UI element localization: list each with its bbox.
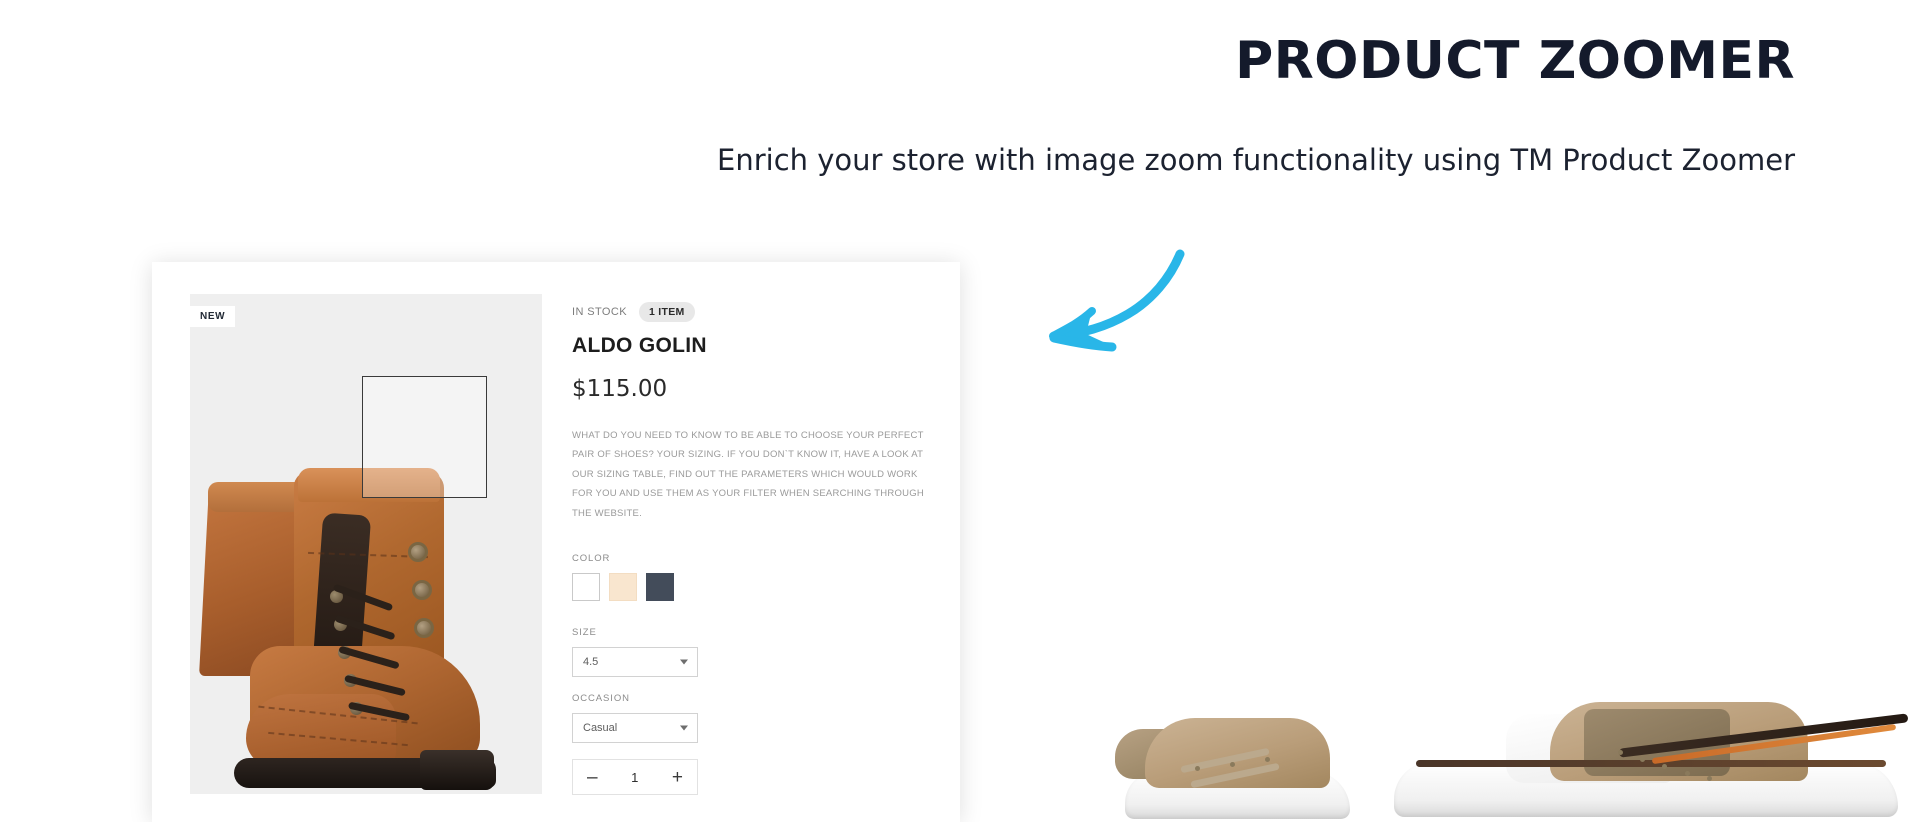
- color-swatch-cream[interactable]: [609, 573, 637, 601]
- product-price: $115.00: [572, 376, 930, 402]
- quantity-stepper[interactable]: – 1 +: [572, 759, 698, 795]
- size-select-value: 4.5: [583, 656, 598, 668]
- size-select[interactable]: 4.5: [572, 647, 698, 677]
- quantity-value[interactable]: 1: [631, 770, 638, 785]
- color-swatch-navy[interactable]: [646, 573, 674, 601]
- product-description: WHAT DO YOU NEED TO KNOW TO BE ABLE TO C…: [572, 426, 930, 523]
- new-badge: NEW: [190, 306, 235, 327]
- color-label: COLOR: [572, 553, 930, 564]
- product-image[interactable]: [190, 294, 542, 794]
- product-name: ALDO GOLIN: [572, 334, 930, 358]
- stock-status: IN STOCK: [572, 306, 627, 318]
- product-card: NEW: [152, 262, 960, 822]
- occasion-select-value: Casual: [583, 722, 617, 734]
- size-label: SIZE: [572, 627, 930, 638]
- color-swatch-group: [572, 573, 930, 601]
- decorative-shoe-image-right: [1360, 697, 1920, 817]
- product-gallery[interactable]: NEW: [190, 294, 542, 794]
- occasion-select[interactable]: Casual: [572, 713, 698, 743]
- page-subtitle: Enrich your store with image zoom functi…: [717, 140, 1795, 181]
- item-count-badge: 1 ITEM: [639, 302, 695, 322]
- stock-row: IN STOCK 1 ITEM: [572, 302, 930, 322]
- decorative-shoe-image-left: [1110, 714, 1360, 819]
- chevron-down-icon: [680, 726, 688, 731]
- zoom-selection-window[interactable]: [362, 376, 487, 498]
- color-swatch-white[interactable]: [572, 573, 600, 601]
- pointer-arrow-icon: [1020, 248, 1190, 363]
- chevron-down-icon: [680, 660, 688, 665]
- occasion-label: OCCASION: [572, 693, 930, 704]
- quantity-decrement-button[interactable]: –: [587, 768, 598, 787]
- page-title: PRODUCT ZOOMER: [1235, 30, 1795, 92]
- quantity-increment-button[interactable]: +: [672, 768, 683, 787]
- product-info: IN STOCK 1 ITEM ALDO GOLIN $115.00 WHAT …: [542, 294, 930, 795]
